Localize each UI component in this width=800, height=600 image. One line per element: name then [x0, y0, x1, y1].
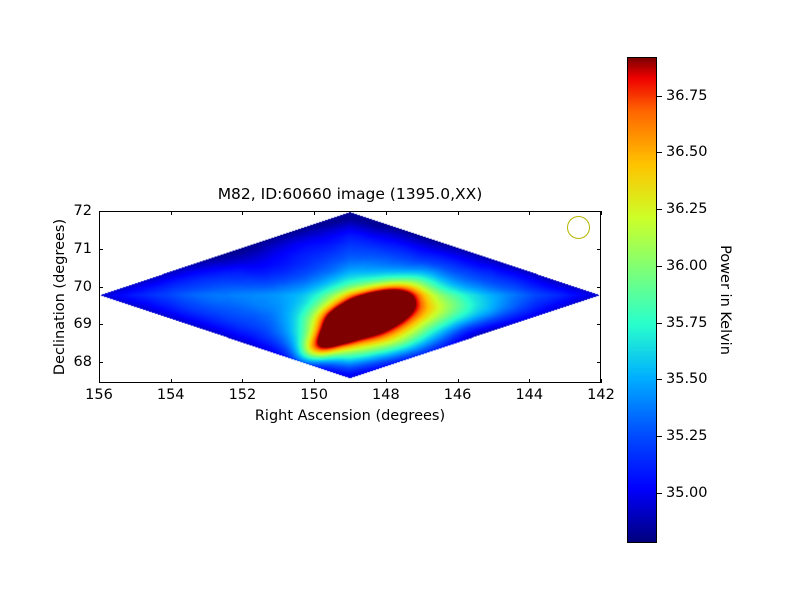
x-tick-mark — [171, 211, 172, 215]
x-tick-label: 144 — [515, 387, 543, 403]
colorbar-tick-label: 35.00 — [666, 485, 708, 501]
y-tick-label: 71 — [74, 241, 92, 257]
y-axis-label: Declination (degrees) — [52, 182, 68, 412]
colorbar-tick-mark — [657, 96, 662, 97]
colorbar-tick-mark — [657, 266, 662, 267]
x-tick-mark — [314, 211, 315, 215]
colorbar-tick-mark — [657, 436, 662, 437]
beam-circle-annotation — [567, 216, 590, 239]
x-tick-mark — [386, 379, 387, 383]
y-tick-label: 70 — [74, 279, 92, 295]
x-tick-label: 148 — [372, 387, 400, 403]
y-tick-label: 69 — [74, 316, 92, 332]
x-tick-mark — [242, 211, 243, 215]
x-tick-label: 156 — [85, 387, 113, 403]
colorbar-tick-mark — [657, 379, 662, 380]
colorbar[interactable] — [627, 57, 657, 543]
colorbar-tick-mark — [657, 493, 662, 494]
x-tick-mark — [386, 211, 387, 215]
y-tick-mark — [597, 324, 601, 325]
colorbar-label: Power in Kelvin — [717, 245, 733, 355]
colorbar-tick-label: 35.75 — [666, 315, 708, 331]
colorbar-tick-mark — [657, 152, 662, 153]
page-title: M82, ID:60660 image (1395.0,XX) — [99, 184, 601, 204]
colorbar-tick-label: 36.25 — [666, 201, 708, 217]
x-tick-mark — [601, 211, 602, 215]
x-tick-label: 154 — [157, 387, 185, 403]
figure-canvas: M82, ID:60660 image (1395.0,XX) 15615415… — [0, 0, 800, 600]
colorbar-tick-label: 35.50 — [666, 371, 708, 387]
colorbar-tick-mark — [657, 323, 662, 324]
x-tick-mark — [458, 379, 459, 383]
x-tick-mark — [529, 379, 530, 383]
y-tick-mark — [597, 249, 601, 250]
x-axis-label: Right Ascension (degrees) — [99, 408, 601, 424]
y-tick-mark — [99, 287, 103, 288]
x-tick-mark — [242, 379, 243, 383]
x-tick-label: 142 — [587, 387, 615, 403]
colorbar-tick-label: 36.50 — [666, 144, 708, 160]
x-tick-mark — [314, 379, 315, 383]
colorbar-tick-mark — [657, 209, 662, 210]
sky-map-axes[interactable] — [99, 211, 601, 383]
x-tick-mark — [529, 211, 530, 215]
x-tick-mark — [99, 379, 100, 383]
colorbar-tick-label: 36.00 — [666, 258, 708, 274]
x-tick-label: 150 — [300, 387, 328, 403]
x-tick-mark — [601, 379, 602, 383]
x-tick-label: 146 — [444, 387, 472, 403]
x-tick-mark — [458, 211, 459, 215]
colorbar-tick-label: 36.75 — [666, 88, 708, 104]
y-tick-mark — [597, 211, 601, 212]
y-tick-mark — [99, 362, 103, 363]
colorbar-tick-label: 35.25 — [666, 428, 708, 444]
x-tick-label: 152 — [229, 387, 257, 403]
y-tick-mark — [99, 249, 103, 250]
y-tick-mark — [597, 362, 601, 363]
colorbar-gradient — [628, 58, 656, 542]
y-tick-mark — [99, 211, 103, 212]
y-tick-mark — [597, 287, 601, 288]
y-tick-label: 72 — [74, 203, 92, 219]
y-tick-mark — [99, 324, 103, 325]
x-tick-mark — [171, 379, 172, 383]
y-tick-label: 68 — [74, 354, 92, 370]
sky-map-heatmap-image — [100, 212, 600, 382]
